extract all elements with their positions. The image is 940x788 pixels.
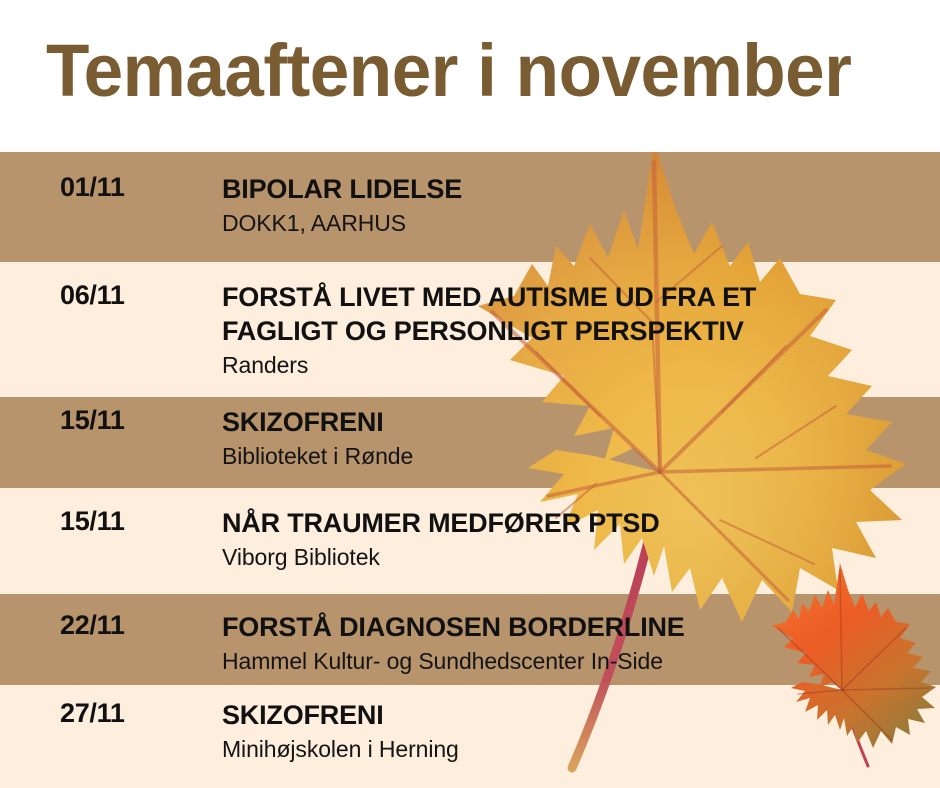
page-title: Temaaftener i november [46,28,851,114]
event-venue: Hammel Kultur- og Sundhedscenter In-Side [222,646,922,676]
event-body: BIPOLAR LIDELSE DOKK1, AARHUS [222,172,922,238]
event-date: 15/11 [60,506,200,536]
event-title: FORSTÅ DIAGNOSEN BORDERLINE [222,610,922,644]
event-title: SKIZOFRENI [222,698,922,732]
event-venue: Minihøjskolen i Herning [222,734,922,764]
event-title: SKIZOFRENI [222,405,922,439]
event-title: NÅR TRAUMER MEDFØRER PTSD [222,506,922,540]
event-venue: DOKK1, AARHUS [222,208,922,238]
event-date: 01/11 [60,172,200,202]
event-body: SKIZOFRENI Biblioteket i Rønde [222,405,922,471]
event-date: 15/11 [60,405,200,435]
event-date: 06/11 [60,280,200,310]
event-title: FORSTÅ LIVET MED AUTISME UD FRA ET [222,280,922,314]
event-body: FORSTÅ LIVET MED AUTISME UD FRA ET FAGLI… [222,280,922,380]
event-body: NÅR TRAUMER MEDFØRER PTSD Viborg Bibliot… [222,506,922,572]
event-venue: Randers [222,350,922,380]
event-date: 27/11 [60,698,200,728]
event-title: BIPOLAR LIDELSE [222,172,922,206]
event-venue: Biblioteket i Rønde [222,441,922,471]
event-body: SKIZOFRENI Minihøjskolen i Herning [222,698,922,764]
poster-canvas: Temaaftener i november 01/11 BIPOLAR LID… [0,0,940,788]
event-date: 22/11 [60,610,200,640]
poster-header: Temaaftener i november [0,0,940,152]
event-title-line2: FAGLIGT OG PERSONLIGT PERSPEKTIV [222,314,922,348]
event-venue: Viborg Bibliotek [222,542,922,572]
event-body: FORSTÅ DIAGNOSEN BORDERLINE Hammel Kultu… [222,610,922,676]
